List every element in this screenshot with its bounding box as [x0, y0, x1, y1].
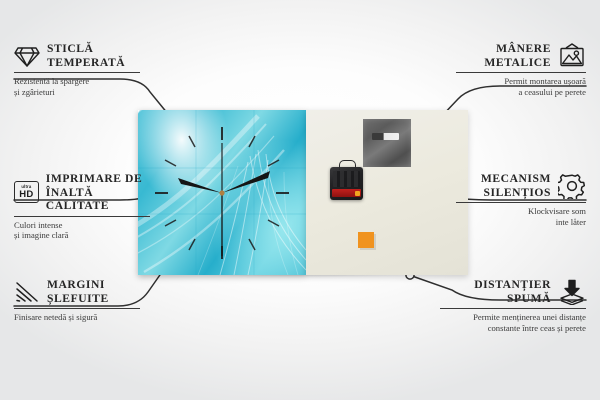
feature-title: MECANISM SILENȚIOS	[481, 172, 551, 199]
battery	[332, 189, 361, 197]
feature-title: DISTANȚIER SPUMĂ	[474, 278, 551, 305]
feature-sticla-temperata: STICLĂ TEMPERATĂ Rezistentă la spargere …	[14, 42, 144, 97]
mechanism-housing-detail	[333, 171, 360, 187]
tick-8	[165, 220, 176, 226]
feature-distantier-spuma: DISTANȚIER SPUMĂ Permite menținerea unei…	[440, 278, 586, 333]
ultra-hd-large-text: HD	[19, 190, 33, 200]
feature-title: MÂNERE METALICE	[484, 42, 551, 69]
feature-desc: Finisare netedă și sigură	[14, 312, 144, 322]
polished-edges-icon	[14, 280, 40, 304]
clock-back-panel	[306, 110, 468, 275]
feature-mecanism-silentios: MECANISM SILENȚIOS Klockvisare som inte …	[456, 172, 586, 227]
hanger-keyhole-slot	[372, 133, 399, 140]
tick-1	[249, 136, 255, 147]
tick-7	[189, 239, 195, 250]
gear-icon	[558, 173, 586, 199]
metal-hanger-plate	[363, 119, 411, 167]
hour-hand	[178, 178, 222, 193]
tick-11	[189, 136, 195, 147]
tick-2	[268, 160, 279, 166]
down-arrow-pad-icon	[558, 279, 586, 305]
feature-desc: Rezistentă la spargere și zgârieturi	[14, 76, 144, 97]
feature-rule	[456, 72, 586, 73]
feature-desc: Klockvisare som inte låter	[456, 206, 586, 227]
infographic-canvas: STICLĂ TEMPERATĂ Rezistentă la spargere …	[0, 0, 600, 400]
feature-title: STICLĂ TEMPERATĂ	[47, 42, 125, 69]
picture-hanger-icon	[558, 43, 586, 68]
hands-hub	[219, 190, 224, 195]
product-wall-clock	[138, 110, 468, 275]
feature-rule	[14, 216, 150, 217]
clock-dial	[138, 110, 306, 275]
feature-imprimare-hd: ultra HD IMPRIMARE DE ÎNALTĂ CALITATE Cu…	[14, 172, 154, 241]
feature-desc: Permit montarea ușoară a ceasului pe per…	[456, 76, 586, 97]
feature-rule	[440, 308, 586, 309]
tick-10	[165, 160, 176, 166]
clock-face-panel	[138, 110, 306, 275]
feature-title: IMPRIMARE DE ÎNALTĂ CALITATE	[46, 172, 154, 213]
feature-desc: Permite menținerea unei distanțe constan…	[440, 312, 586, 333]
mechanism-hanging-loop	[339, 160, 356, 170]
clock-hands	[178, 143, 270, 256]
feature-rule	[14, 308, 140, 309]
quartz-mechanism	[330, 167, 363, 200]
diamond-icon	[14, 44, 40, 68]
feature-manere-metalice: MÂNERE METALICE Permit montarea ușoară a…	[456, 42, 586, 97]
foam-spacer	[358, 232, 374, 248]
feature-title: MARGINI ȘLEFUITE	[47, 278, 109, 305]
tick-5	[249, 239, 255, 250]
tick-4	[268, 220, 279, 226]
minute-hand	[222, 171, 270, 193]
feature-margini-slefuite: MARGINI ȘLEFUITE Finisare netedă și sigu…	[14, 278, 144, 323]
ultra-hd-badge-icon: ultra HD	[14, 181, 39, 203]
feature-rule	[456, 202, 586, 203]
feature-desc: Culori intense și imagine clară	[14, 220, 154, 241]
feature-rule	[14, 72, 140, 73]
